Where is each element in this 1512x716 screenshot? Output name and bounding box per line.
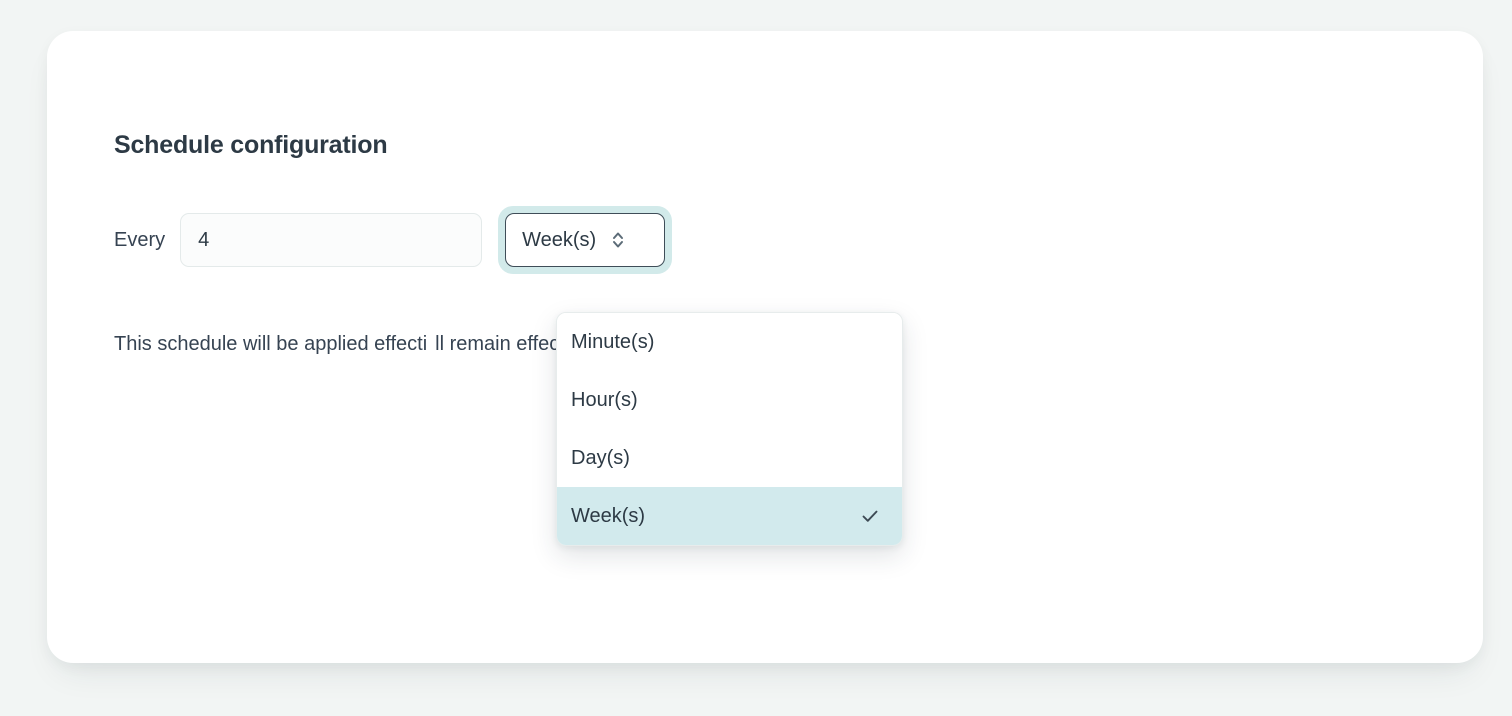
- dropdown-option-minutes[interactable]: Minute(s): [557, 313, 902, 371]
- unit-dropdown-menu[interactable]: Minute(s) Hour(s) Day(s) Week(s): [556, 312, 903, 546]
- every-label: Every: [114, 229, 165, 252]
- sentence-lead-text: This schedule will be applied effecti: [114, 333, 427, 356]
- check-icon: [860, 506, 880, 526]
- select-chevrons-icon: [610, 228, 626, 252]
- every-row: Every Week(s): [114, 213, 672, 267]
- dropdown-option-label: Day(s): [571, 447, 630, 470]
- page-root: Schedule configuration Every Week(s) Thi…: [0, 0, 1512, 716]
- dropdown-option-weeks[interactable]: Week(s): [557, 487, 902, 545]
- dropdown-option-label: Minute(s): [571, 331, 654, 354]
- unit-select-focus-ring: Week(s): [498, 206, 672, 274]
- page-title: Schedule configuration: [114, 131, 387, 160]
- unit-select-value: Week(s): [522, 229, 596, 252]
- quantity-input[interactable]: [180, 213, 482, 267]
- unit-select[interactable]: Week(s): [505, 213, 665, 267]
- dropdown-option-days[interactable]: Day(s): [557, 429, 902, 487]
- dropdown-option-label: Hour(s): [571, 389, 638, 412]
- dropdown-option-hours[interactable]: Hour(s): [557, 371, 902, 429]
- dropdown-option-label: Week(s): [571, 505, 645, 528]
